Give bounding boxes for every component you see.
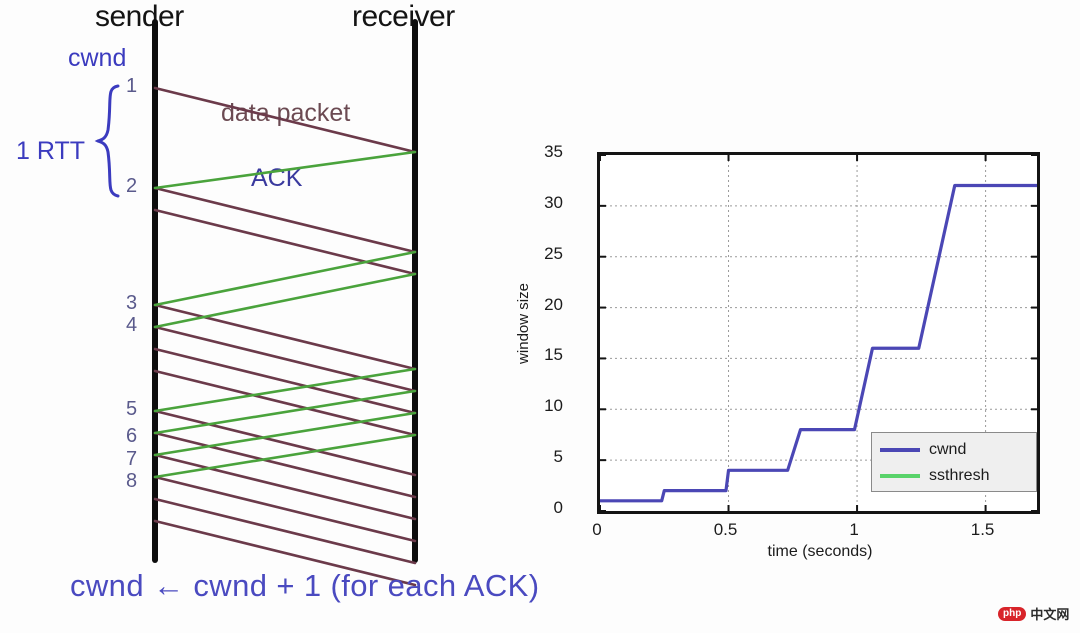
y-tick-label: 20 <box>523 295 563 315</box>
y-tick-label: 25 <box>523 244 563 264</box>
ack-arrow <box>155 152 415 188</box>
cwnd-chart: window size time (seconds) 0510152025303… <box>545 135 1065 560</box>
legend-label: ssthresh <box>929 467 989 485</box>
data-packet-arrow <box>155 88 415 152</box>
x-tick-label: 1.5 <box>971 520 995 540</box>
y-tick-label: 35 <box>523 142 563 162</box>
ack-arrow <box>155 274 415 327</box>
cwnd-number: 1 <box>126 75 137 98</box>
y-tick-label: 30 <box>523 193 563 213</box>
cwnd-number: 3 <box>126 292 137 315</box>
legend-swatch-cwnd <box>880 448 920 452</box>
y-tick-label: 0 <box>523 498 563 518</box>
watermark: php 中文网 <box>998 604 1069 623</box>
cwnd-number: 6 <box>126 425 137 448</box>
legend-swatch-ssthresh <box>880 474 920 478</box>
legend-item: ssthresh <box>880 463 989 489</box>
caption-formula: cwnd ← cwnd + 1 (for each ACK) <box>70 568 539 604</box>
watermark-text: 中文网 <box>1030 604 1069 623</box>
cwnd-number: 7 <box>126 448 137 471</box>
rtt-brace <box>98 86 118 196</box>
php-badge: php <box>998 607 1026 621</box>
cwnd-number: 4 <box>126 314 137 337</box>
chart-legend: cwndssthresh <box>871 432 1037 492</box>
cwnd-number: 8 <box>126 470 137 493</box>
y-tick-label: 10 <box>523 396 563 416</box>
cwnd-number: 5 <box>126 398 137 421</box>
y-tick-label: 15 <box>523 345 563 365</box>
x-tick-label: 0 <box>592 520 601 540</box>
x-tick-label: 1 <box>849 520 858 540</box>
y-tick-label: 5 <box>523 447 563 467</box>
x-tick-label: 0.5 <box>714 520 738 540</box>
cwnd-number: 2 <box>126 175 137 198</box>
legend-item: cwnd <box>880 437 966 463</box>
x-axis-title: time (seconds) <box>768 543 873 561</box>
ack-arrow <box>155 252 415 305</box>
legend-label: cwnd <box>929 441 966 459</box>
